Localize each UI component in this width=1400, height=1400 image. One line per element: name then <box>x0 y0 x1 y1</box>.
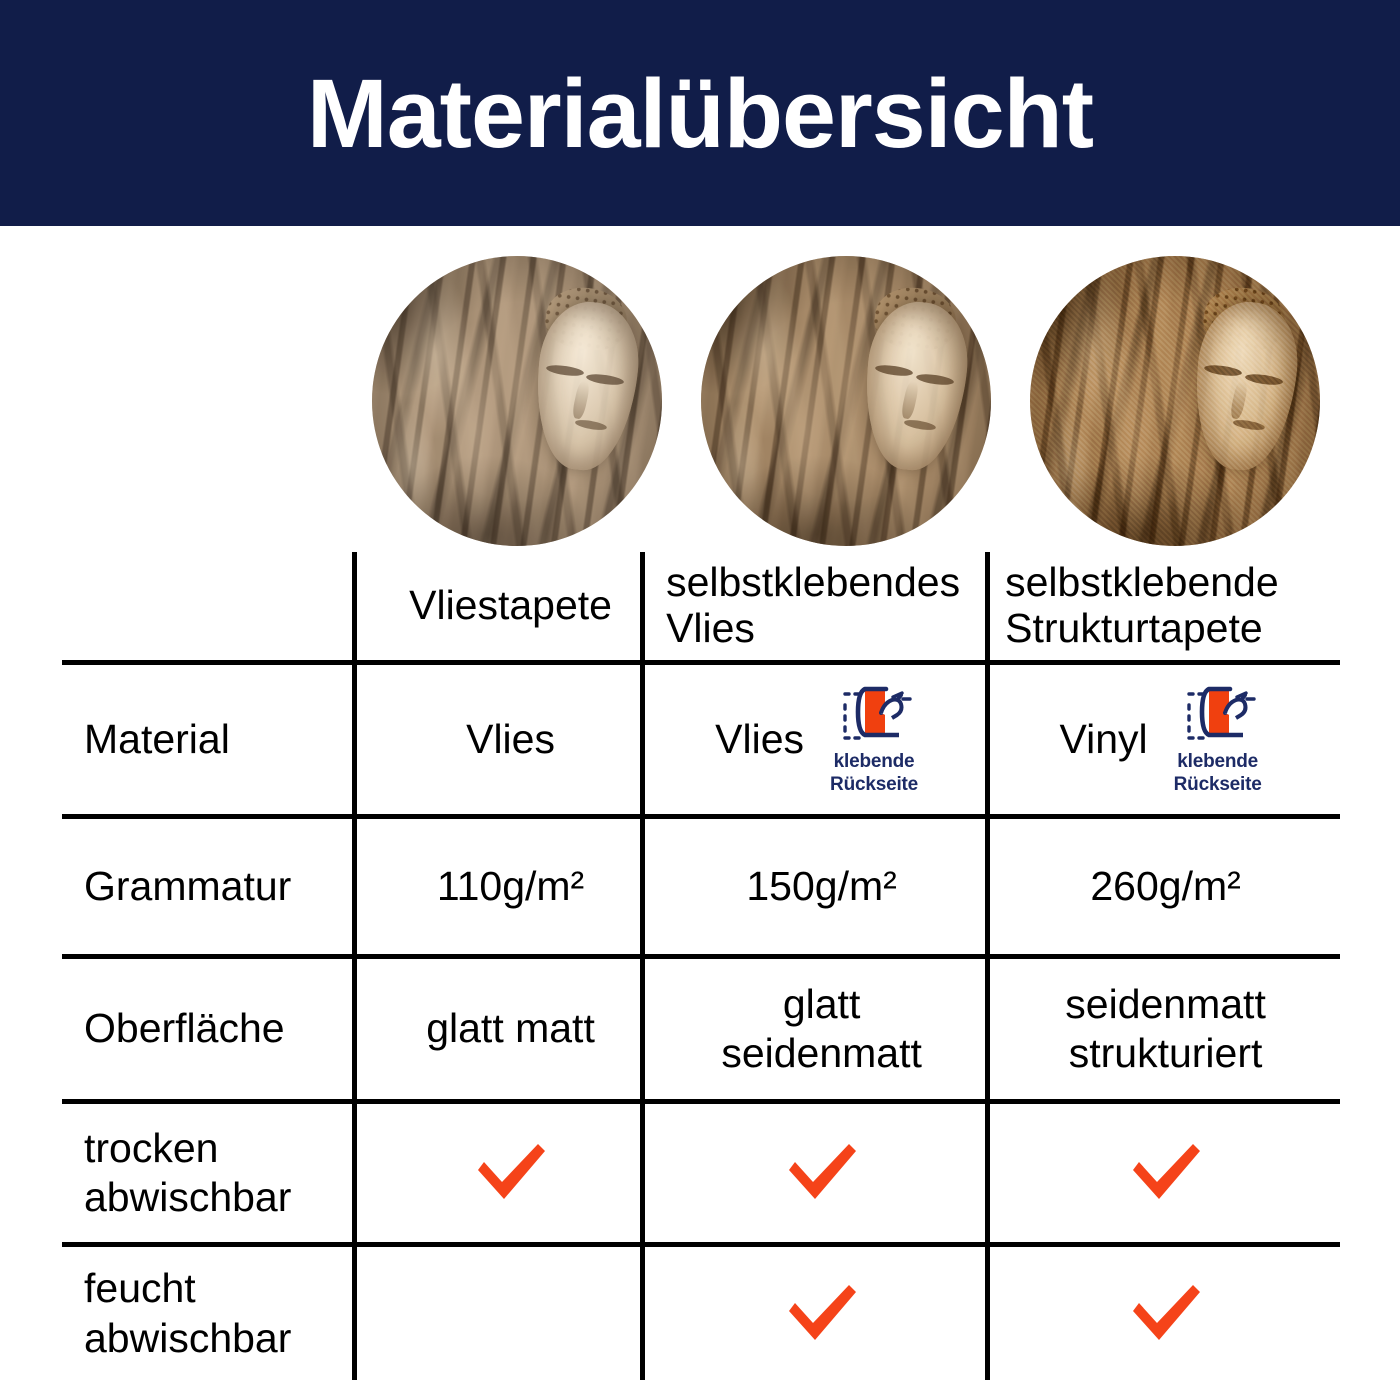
checkmark-icon <box>1127 1142 1205 1204</box>
column-header-vliestapete: Vliestapete <box>369 552 652 660</box>
row-label-feucht-abwischbar: feucht abwischbar <box>62 1247 369 1380</box>
table-row-oberflaeche: Oberfläche glatt matt glatt seidenmatt s… <box>62 959 1340 1099</box>
page-header-band: Materialübersicht <box>0 0 1400 226</box>
adhesive-back-badge-line1: klebende <box>834 751 915 772</box>
cell-material-vliestapete-text: Vlies <box>466 715 555 764</box>
cell-material-selbstklebendes-vlies-text: Vlies <box>715 715 804 764</box>
cell-feucht-selbstklebendes-vlies <box>652 1247 991 1380</box>
cell-oberflaeche-selbstklebende-strukturtapete: seidenmatt strukturiert <box>991 959 1340 1099</box>
checkmark-icon <box>783 1283 861 1345</box>
cell-oberflaeche-selbstklebendes-vlies-line1: glatt <box>783 981 861 1027</box>
cell-grammatur-vliestapete: 110g/m² <box>369 819 652 954</box>
peel-sticker-hand-icon <box>1179 683 1257 749</box>
column-header-selbstklebendes-vlies-line2: Vlies <box>666 606 991 652</box>
cell-grammatur-selbstklebende-strukturtapete: 260g/m² <box>991 819 1340 954</box>
adhesive-back-badge-text: klebende Rückseite <box>830 751 918 796</box>
cell-feucht-selbstklebende-strukturtapete <box>991 1247 1340 1380</box>
cell-material-selbstklebende-strukturtapete: Vinyl klebende Rückseite <box>991 665 1340 814</box>
table-row-feucht-abwischbar: feucht abwischbar <box>62 1247 1340 1380</box>
adhesive-back-badge-line1: klebende <box>1177 751 1258 772</box>
table-row-grammatur: Grammatur 110g/m² 150g/m² 260g/m² <box>62 819 1340 954</box>
row-label-trocken-abwischbar-line1: trocken <box>84 1125 218 1171</box>
cell-grammatur-selbstklebendes-vlies: 150g/m² <box>652 819 991 954</box>
material-comparison-table: Vliestapete selbstklebendes Vlies selbst… <box>62 552 1340 1382</box>
column-header-spacer <box>62 552 369 660</box>
adhesive-back-badge-text: klebende Rückseite <box>1174 751 1262 796</box>
column-header-selbstklebendes-vlies-line1: selbstklebendes <box>666 560 991 606</box>
row-label-material: Material <box>62 665 369 814</box>
adhesive-back-badge: klebende Rückseite <box>1164 683 1272 796</box>
cell-oberflaeche-selbstklebendes-vlies: glatt seidenmatt <box>652 959 991 1099</box>
table-column-header-row: Vliestapete selbstklebendes Vlies selbst… <box>62 552 1340 660</box>
cell-trocken-selbstklebendes-vlies <box>652 1104 991 1242</box>
table-row-material: Material Vlies Vlies klebe <box>62 665 1340 814</box>
swatch-image-selbstklebendes-vlies <box>701 256 991 546</box>
row-label-feucht-abwischbar-line2: abwischbar <box>84 1315 291 1361</box>
checkmark-icon <box>472 1142 550 1204</box>
cell-material-vliestapete: Vlies <box>369 665 652 814</box>
adhesive-back-badge-line2: Rückseite <box>1174 774 1262 795</box>
material-swatch-row <box>352 256 1340 552</box>
cell-oberflaeche-selbstklebendes-vlies-line2: seidenmatt <box>721 1030 922 1076</box>
column-header-vliestapete-line1: Vliestapete <box>409 583 612 629</box>
swatch-cell-selbstklebende-strukturtapete <box>1011 256 1340 552</box>
column-header-selbstklebende-strukturtapete-line2: Strukturtapete <box>1005 606 1340 652</box>
cell-material-selbstklebendes-vlies: Vlies klebende Rückseite <box>652 665 991 814</box>
row-label-oberflaeche: Oberfläche <box>62 959 369 1099</box>
column-header-selbstklebendes-vlies: selbstklebendes Vlies <box>652 552 991 660</box>
peel-sticker-hand-icon <box>835 683 913 749</box>
column-header-selbstklebende-strukturtapete: selbstklebende Strukturtapete <box>991 552 1340 660</box>
cell-oberflaeche-selbstklebende-strukturtapete-line2: strukturiert <box>1069 1030 1263 1076</box>
swatch-cell-vliestapete <box>352 256 681 552</box>
cell-oberflaeche-vliestapete-line1: glatt matt <box>426 1005 595 1051</box>
cell-trocken-selbstklebende-strukturtapete <box>991 1104 1340 1242</box>
cell-material-selbstklebende-strukturtapete-text: Vinyl <box>1060 715 1148 764</box>
swatch-image-vliestapete <box>372 256 662 546</box>
adhesive-back-badge-line2: Rückseite <box>830 774 918 795</box>
column-header-selbstklebende-strukturtapete-line1: selbstklebende <box>1005 560 1340 606</box>
swatch-cell-selbstklebendes-vlies <box>681 256 1010 552</box>
table-row-trocken-abwischbar: trocken abwischbar <box>62 1104 1340 1242</box>
row-label-feucht-abwischbar-line1: feucht <box>84 1265 196 1311</box>
checkmark-icon <box>783 1142 861 1204</box>
swatch-image-selbstklebende-strukturtapete <box>1030 256 1320 546</box>
row-label-grammatur: Grammatur <box>62 819 369 954</box>
page-title: Materialübersicht <box>307 65 1093 162</box>
row-label-trocken-abwischbar-line2: abwischbar <box>84 1174 291 1220</box>
cell-trocken-vliestapete <box>369 1104 652 1242</box>
cell-feucht-vliestapete <box>369 1247 652 1380</box>
adhesive-back-badge: klebende Rückseite <box>820 683 928 796</box>
row-label-trocken-abwischbar: trocken abwischbar <box>62 1104 369 1242</box>
cell-oberflaeche-selbstklebende-strukturtapete-line1: seidenmatt <box>1065 981 1266 1027</box>
cell-oberflaeche-vliestapete: glatt matt <box>369 959 652 1099</box>
checkmark-icon <box>1127 1283 1205 1345</box>
